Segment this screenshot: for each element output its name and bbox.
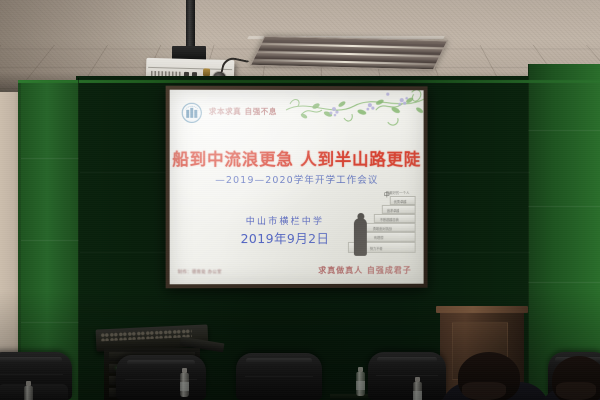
- vine-decoration: [284, 90, 424, 140]
- stair-step-label: 追求卓越: [387, 208, 400, 213]
- slide-motto-bottom: 求真做真人 自强成君子: [318, 265, 411, 276]
- attendee-center-neck: [462, 382, 506, 400]
- podium-top-surface: [436, 306, 528, 313]
- wall-panel-column-right: [528, 64, 600, 400]
- auditorium-photo: 求本求真 自强不息: [0, 0, 600, 400]
- bottle-label: [356, 381, 365, 390]
- stair-step-label: 有理想: [374, 235, 384, 240]
- slide-subtitle: —2019—2020学年开学工作会议: [170, 172, 424, 186]
- panel-seam: [528, 282, 600, 283]
- stair-step-label: 努力不倦: [370, 246, 383, 251]
- bottle-label: [413, 391, 422, 400]
- panel-seam-vertical: [78, 78, 79, 400]
- water-bottle-1: [180, 373, 189, 397]
- panel-seam: [528, 206, 600, 207]
- chair-front-center: [236, 353, 322, 400]
- chair-crease: [0, 374, 63, 375]
- chair-front-left-2: [116, 355, 206, 400]
- bottle-cap: [182, 368, 187, 373]
- slide-main-title: 船到中流浪更急 人到半山路更陡: [170, 146, 424, 170]
- mixer-knob-array: [100, 328, 192, 341]
- slide-date: 2019年9月2日: [210, 228, 360, 247]
- wall-top-edge: [18, 80, 600, 83]
- slide-footnote: 制作：德育处 办公室: [178, 269, 222, 275]
- silhouette-head: [357, 213, 364, 220]
- emblem-bars: [186, 108, 197, 118]
- panel-seam: [21, 158, 79, 159]
- water-bottle-4: [24, 386, 33, 400]
- bottle-cap: [415, 377, 420, 382]
- bottle-cap: [358, 367, 363, 372]
- chair-crease: [376, 375, 438, 376]
- recessed-linear-light: [250, 36, 448, 71]
- bottle-label: [180, 382, 189, 391]
- water-bottle-2: [356, 372, 365, 396]
- chair-highlight: [0, 357, 62, 362]
- panel-seam-vertical: [528, 64, 529, 400]
- lamp-tube-3: [253, 59, 436, 65]
- lamp-tube-2: [257, 51, 440, 57]
- chair-highlight: [127, 360, 195, 365]
- stair-step-label: 不断超越自我: [380, 217, 399, 222]
- projection-screen-frame: 求本求真 自强不息: [166, 86, 428, 289]
- stairs-illustration: 优秀卓越 追求卓越 不断超越自我 勇敢面对挑战 有理想 努力不倦: [344, 194, 416, 260]
- stairs-person-silhouette: [354, 218, 367, 256]
- panel-seam: [528, 130, 600, 131]
- water-bottle-3: [413, 382, 422, 400]
- projector-seam: [148, 67, 232, 70]
- chair-front-left-1-seat: [0, 384, 68, 400]
- attendee-right-neck: [556, 382, 596, 400]
- school-emblem-icon: [182, 103, 202, 123]
- projection-screen: 求本求真 自强不息: [170, 90, 424, 285]
- bottle-cap: [26, 381, 31, 386]
- slide-school-name: 中山市横栏中学: [210, 214, 360, 227]
- panel-seam: [21, 240, 79, 241]
- stair-step-label: 优秀卓越: [394, 199, 407, 204]
- projector-mount-pole: [186, 0, 195, 48]
- chair-front-right-1: [368, 352, 446, 400]
- chair-highlight: [246, 358, 311, 363]
- chair-highlight: [377, 357, 436, 362]
- stair-step-label: 勇敢面对挑战: [373, 226, 392, 231]
- chair-crease: [245, 376, 314, 377]
- slide-motto-top: 求本求真 自强不息: [209, 106, 277, 117]
- panel-seam: [21, 322, 79, 323]
- lamp-tube-1: [261, 43, 444, 49]
